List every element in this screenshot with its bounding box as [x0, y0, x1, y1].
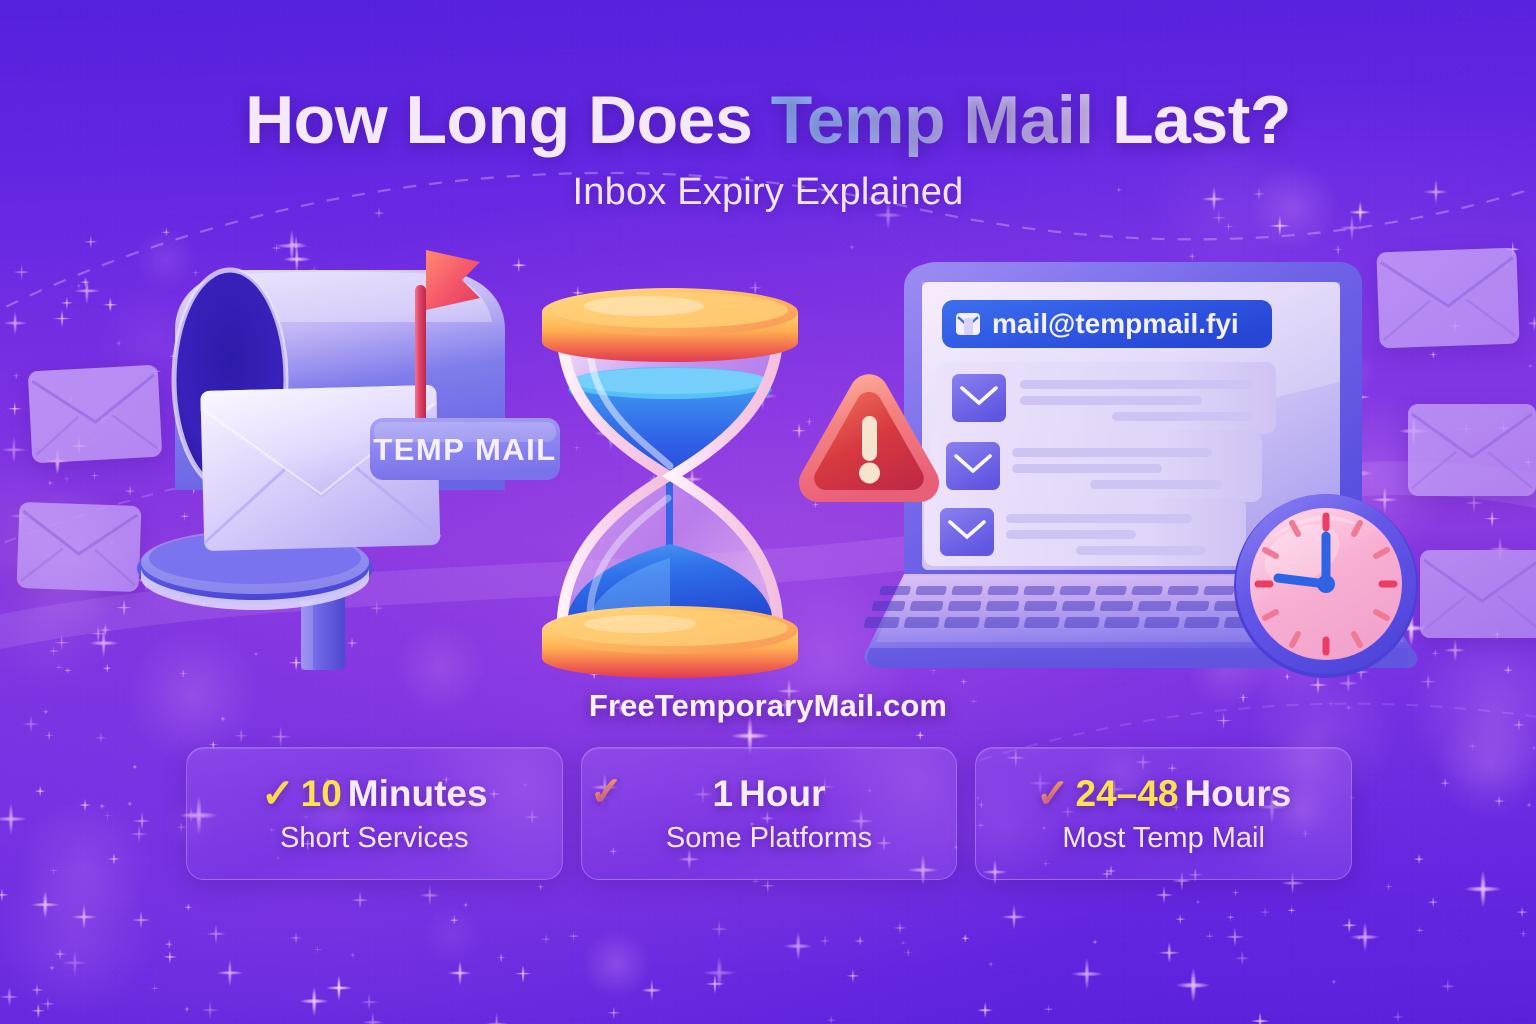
sparkle-star: [162, 228, 171, 237]
title-part-main: How Long Does: [245, 82, 771, 158]
sparkle-star: [132, 763, 138, 769]
sparkle-star: [13, 372, 21, 380]
sparkle-star: [64, 667, 71, 674]
sparkle-star: [1526, 802, 1532, 808]
sparkle-star: [60, 296, 74, 310]
sparkle-star: [41, 997, 55, 1011]
sparkle-star: [49, 965, 56, 972]
expiry-card-10-minutes[interactable]: ✓10 Minutes Short Services: [186, 747, 563, 880]
sparkle-star: [53, 634, 70, 651]
sparkle-star: [826, 1015, 836, 1024]
email-address-text: mail@tempmail.fyi: [992, 308, 1239, 339]
sparkle-star: [31, 984, 44, 997]
sparkle-star: [178, 668, 189, 679]
sparkle-star: [1468, 741, 1478, 751]
sparkle-star: [1155, 886, 1173, 904]
sparkle-star: [54, 948, 66, 960]
sparkle-star: [184, 1006, 190, 1012]
sparkle-star: [1527, 363, 1533, 369]
expiry-card-24-48-hours[interactable]: ✓24–48 Hours Most Temp Mail: [975, 747, 1352, 880]
sparkle-star: [1465, 871, 1502, 908]
sparkle-star: [300, 987, 329, 1016]
sparkle-star: [1355, 934, 1361, 940]
sparkle-star: [1493, 795, 1505, 807]
sparkle-star: [164, 939, 173, 948]
sparkle-star: [900, 940, 906, 946]
sparkle-star: [710, 920, 727, 937]
sparkle-star: [703, 956, 736, 989]
sparkle-star: [216, 959, 243, 986]
sparkle-star: [893, 922, 906, 935]
sparkle-star: [47, 645, 59, 657]
sparkle-star: [1516, 907, 1528, 919]
warning-triangle-icon: [788, 368, 948, 513]
sparkle-star: [132, 812, 151, 831]
sparkle-star: [1339, 215, 1365, 241]
sparkle-star: [1440, 778, 1450, 788]
sparkle-star: [360, 993, 378, 1011]
sparkle-star: [568, 931, 579, 942]
sparkle-star: [7, 401, 22, 416]
inbox-row[interactable]: [924, 498, 1246, 566]
sparkle-star: [1092, 939, 1098, 945]
sparkle-star: [496, 953, 506, 963]
card-subtitle: Short Services: [280, 822, 469, 855]
sparkle-star: [1330, 979, 1337, 986]
sparkle-star: [1188, 252, 1196, 260]
sparkle-star: [362, 1012, 383, 1024]
card-headline: ✓10 Minutes: [261, 773, 487, 815]
sparkle-star: [72, 904, 97, 929]
sparkle-star: [1342, 918, 1357, 933]
sparkle-star: [977, 1002, 993, 1018]
sparkle-star: [760, 878, 775, 893]
sparkle-star: [1195, 899, 1201, 905]
sparkle-star: [126, 800, 133, 807]
sparkle-star: [1176, 968, 1210, 1002]
sparkle-star: [49, 867, 58, 876]
sparkle-star: [313, 945, 323, 955]
sparkle-star: [450, 915, 460, 925]
sparkle-star: [854, 935, 866, 947]
card-subtitle: Some Platforms: [666, 822, 872, 855]
sparkle-star: [201, 1002, 219, 1020]
check-icon: ✓: [261, 774, 295, 814]
mail-badge-icon: [956, 313, 980, 335]
sparkle-star: [514, 965, 532, 983]
infographic-canvas: TEMP MAIL: [0, 0, 1536, 1024]
title-part-accent: Temp Mail: [771, 82, 1094, 158]
sparkle-star: [132, 910, 150, 928]
sparkle-star: [1428, 897, 1439, 908]
sparkle-star: [184, 903, 192, 911]
sparkle-star: [1431, 649, 1440, 658]
sparkle-star: [55, 663, 63, 671]
sparkle-star: [1414, 854, 1425, 865]
sparkle-glow: [582, 930, 650, 998]
sparkle-star: [1226, 913, 1235, 922]
sparkle-star: [1440, 979, 1455, 994]
sparkle-star: [541, 934, 552, 945]
sparkle-star: [1333, 244, 1344, 255]
expiry-cards: ✓10 Minutes Short Services ✓1 Hour Some …: [186, 747, 1352, 880]
sparkle-star: [1444, 639, 1466, 661]
expiry-card-1-hour[interactable]: ✓1 Hour Some Platforms: [581, 747, 958, 880]
sparkle-star: [988, 961, 994, 967]
card-headline: ✓24–48 Hours: [1036, 773, 1291, 815]
sparkle-star: [1043, 1004, 1054, 1015]
sparkle-star: [1391, 1010, 1404, 1023]
sparkle-star: [150, 984, 159, 993]
sparkle-star: [1251, 1012, 1269, 1024]
sparkle-star: [0, 803, 27, 835]
sparkle-star: [206, 924, 226, 944]
sparkle-star: [537, 884, 545, 892]
sparkle-star: [99, 803, 105, 809]
sparkle-star: [13, 263, 31, 281]
sparkle-star: [61, 949, 88, 976]
sparkle-star: [233, 728, 249, 744]
sparkle-star: [1224, 222, 1233, 231]
sparkle-star: [1204, 931, 1215, 942]
floating-envelope: [1408, 404, 1536, 496]
page-subtitle: Inbox Expiry Explained: [0, 171, 1536, 214]
sparkle-star: [849, 244, 855, 250]
sparkle-star: [351, 891, 369, 909]
sparkle-star: [31, 1003, 46, 1018]
sparkle-star: [1175, 914, 1185, 924]
sparkle-glow: [0, 856, 156, 1019]
sparkle-star: [107, 853, 120, 866]
card-number: 1: [713, 773, 734, 815]
check-icon: ✓: [590, 772, 624, 812]
sparkle-star: [462, 902, 469, 909]
brand-watermark: FreeTemporaryMail.com: [0, 688, 1536, 724]
check-icon: ✓: [1036, 774, 1070, 814]
card-unit: Hour: [739, 773, 825, 815]
sparkle-star: [1287, 906, 1296, 915]
sparkle-star: [1071, 958, 1103, 990]
sparkle-star: [485, 1012, 508, 1024]
card-unit: Minutes: [348, 773, 488, 815]
card-unit: Hours: [1184, 773, 1291, 815]
card-number: 24–48: [1076, 773, 1179, 815]
sparkle-star: [3, 312, 27, 336]
hourglass-illustration: [520, 280, 820, 680]
sparkle-glow: [1434, 710, 1536, 820]
sparkle-star: [1234, 950, 1250, 966]
sparkle-star: [419, 885, 440, 906]
sparkle-star: [43, 730, 54, 741]
sparkle-star: [1001, 904, 1026, 929]
sparkle-star: [705, 974, 725, 994]
inbox-row[interactable]: [930, 430, 1262, 502]
sparkle-star: [846, 969, 860, 983]
sparkle-star: [0, 436, 27, 463]
sparkle-star: [1531, 745, 1536, 751]
inbox-row[interactable]: [936, 362, 1276, 434]
sparkle-star: [349, 952, 355, 958]
sparkle-star: [63, 475, 71, 483]
sparkle-star: [915, 730, 925, 740]
sparkle-star: [94, 731, 107, 744]
sparkle-star: [641, 979, 662, 1000]
clock-icon: [1232, 492, 1420, 680]
header: How Long Does Temp Mail Last? Inbox Expi…: [0, 0, 1536, 214]
sparkle-star: [130, 825, 148, 843]
sparkle-star: [1159, 942, 1181, 964]
sparkle-star: [784, 932, 813, 961]
title-part-tail: Last?: [1094, 82, 1291, 158]
card-subtitle: Most Temp Mail: [1062, 822, 1265, 855]
sparkle-star: [1232, 888, 1240, 896]
sparkle-star: [53, 309, 72, 328]
sparkle-star: [79, 799, 91, 811]
sparkle-star: [1484, 510, 1501, 527]
sparkle-star: [1503, 665, 1513, 675]
sparkle-star: [818, 935, 831, 948]
mailbox-illustration: TEMP MAIL: [80, 240, 580, 670]
sparkle-star: [47, 480, 53, 486]
card-number: 10: [301, 773, 342, 815]
sparkle-star: [1350, 922, 1380, 952]
sparkle-star: [1384, 883, 1392, 891]
page-title: How Long Does Temp Mail Last?: [0, 84, 1536, 157]
sparkle-star: [289, 932, 302, 945]
sparkle-star: [1225, 927, 1245, 947]
sparkle-star: [0, 987, 19, 1007]
sparkle-glow: [422, 904, 483, 965]
sparkle-star: [903, 948, 913, 958]
sparkle-star: [1415, 926, 1423, 934]
sparkle-star: [326, 975, 352, 1001]
sparkle-glow: [15, 796, 153, 934]
sparkle-star: [1429, 351, 1438, 360]
sparkle-star: [103, 811, 113, 821]
card-headline: ✓1 Hour: [582, 773, 957, 815]
sparkle-star: [163, 950, 177, 964]
sparkle-star: [269, 725, 292, 748]
sparkle-star: [31, 890, 60, 919]
sparkle-star: [0, 888, 9, 902]
sparkle-star: [607, 1006, 621, 1020]
sparkle-star: [1259, 907, 1270, 918]
sparkle-star: [961, 934, 969, 942]
floating-envelope: [1420, 550, 1536, 638]
sparkle-star: [1519, 930, 1527, 938]
sparkle-star: [35, 786, 46, 797]
sparkle-star: [1527, 316, 1536, 331]
sparkle-star: [1269, 215, 1290, 236]
sparkle-star: [447, 961, 472, 986]
